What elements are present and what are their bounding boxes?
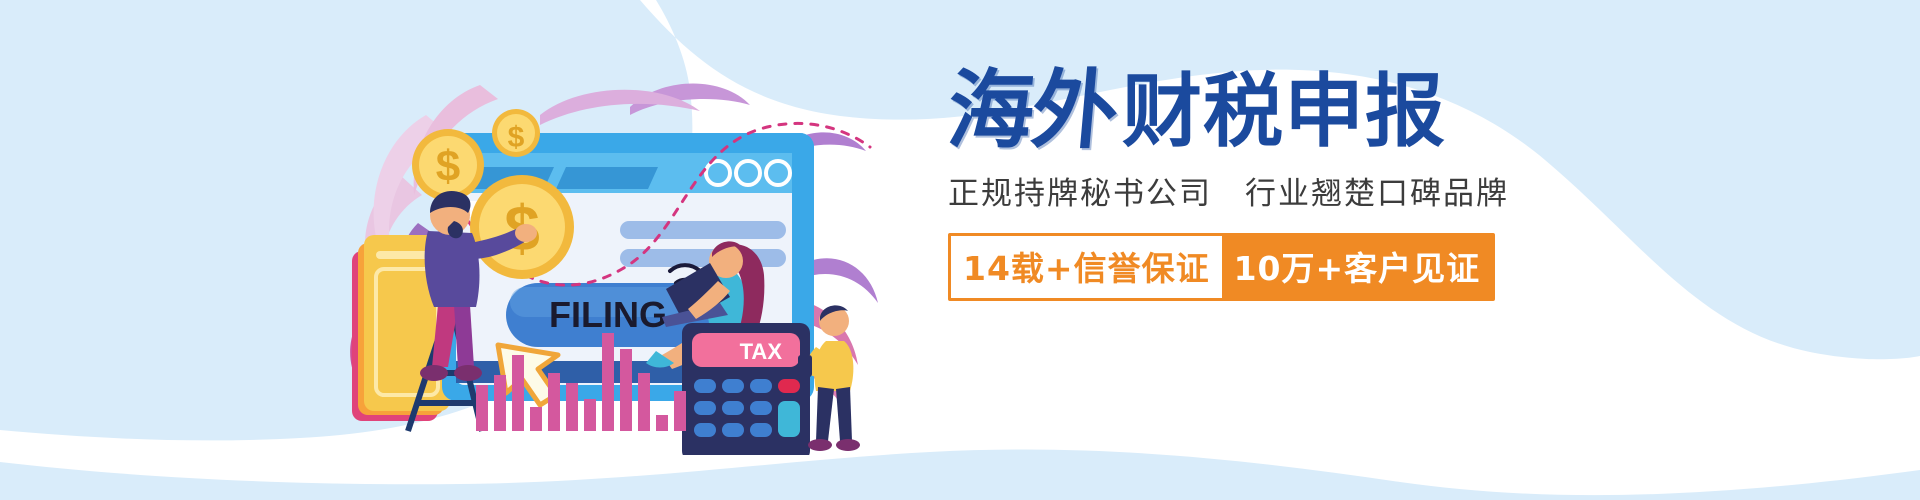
- svg-text:$: $: [508, 121, 525, 154]
- badge-group: 14载+信誉保证 10万+客户见证: [948, 233, 1495, 301]
- headline: 海外 财税申报: [948, 68, 1708, 154]
- badge-customers: 10万+客户见证: [1222, 236, 1493, 298]
- calculator-display-label: TAX: [740, 339, 783, 364]
- coin-icon: $: [412, 129, 484, 201]
- headline-part-1: 海外: [944, 68, 1120, 154]
- headline-part-2: 财税申报: [1122, 72, 1446, 152]
- svg-text:$: $: [436, 142, 460, 191]
- calculator-icon: TAX: [682, 323, 810, 455]
- filing-button-label: FILING: [549, 294, 667, 335]
- badge-years: 14载+信誉保证: [951, 236, 1222, 298]
- coin-icon: $: [492, 109, 540, 157]
- subtitle: 正规持牌秘书公司 行业翘楚口碑品牌: [948, 168, 1708, 213]
- tax-filing-illustration: FILING $ $ $: [330, 55, 890, 455]
- promo-banner: FILING $ $ $: [0, 0, 1920, 500]
- banner-text-block: 海外 财税申报 正规持牌秘书公司 行业翘楚口碑品牌 14载+信誉保证 10万+客…: [948, 68, 1708, 368]
